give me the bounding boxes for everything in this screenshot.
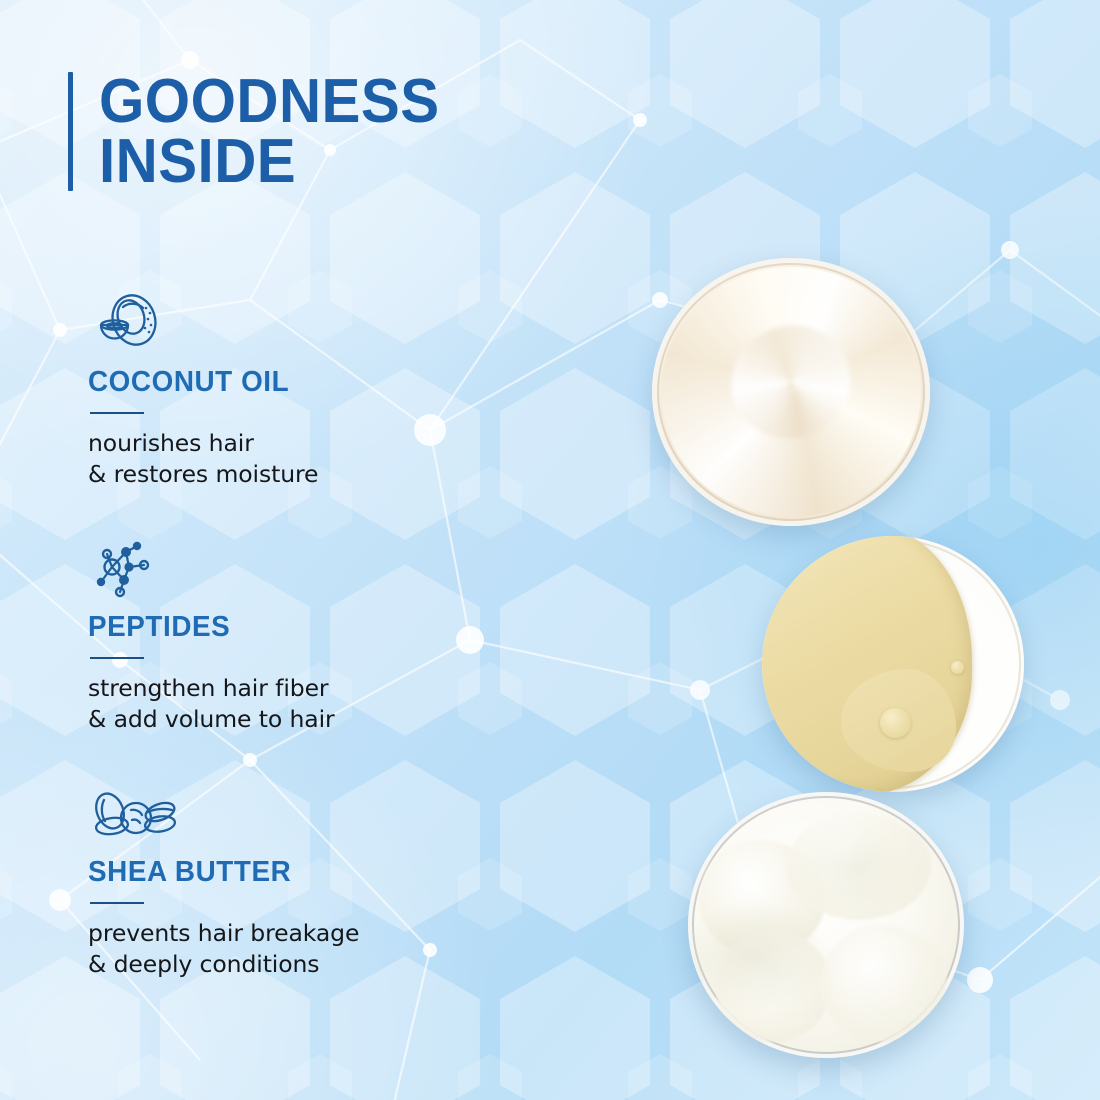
oil-pool-lobe (841, 669, 956, 771)
ingredient-description: nourishes hair & restores moisture (88, 428, 488, 489)
shea-shading (688, 792, 964, 1058)
ingredient-description: prevents hair breakage & deeply conditio… (88, 918, 488, 979)
shea-butter-jar (688, 792, 964, 1058)
ingredient-title: COCONUT OIL (88, 366, 472, 399)
golden-oil-dish (762, 536, 1024, 792)
ingredient-description: strengthen hair fiber & add volume to ha… (88, 673, 488, 734)
ingredient-item-coconut-oil: COCONUT OIL nourishes hair & restores mo… (88, 292, 488, 489)
page-title-block: GOODNESS INSIDE (68, 72, 461, 191)
title-accent-bar (68, 72, 73, 191)
ingredient-divider (90, 657, 144, 659)
cream-swirl-texture (661, 267, 921, 517)
ingredient-divider (90, 902, 144, 904)
goodness-inside-infographic: GOODNESS INSIDE (0, 0, 1100, 1100)
shea-texture-chunk (820, 925, 947, 1042)
oil-droplet-small (951, 661, 964, 674)
peptide-molecule-icon (88, 537, 488, 599)
shea-texture-chunk (699, 840, 826, 957)
coconut-icon (88, 292, 488, 354)
ingredient-title: SHEA BUTTER (88, 856, 472, 889)
ingredient-item-shea-butter: SHEA BUTTER prevents hair breakage & dee… (88, 782, 488, 979)
shea-texture-chunk (716, 930, 832, 1042)
ingredient-title: PEPTIDES (88, 611, 472, 644)
ingredient-list: COCONUT OIL nourishes hair & restores mo… (88, 292, 488, 979)
page-title: GOODNESS INSIDE (99, 72, 440, 191)
oil-pool (762, 536, 972, 792)
oil-droplet-large (880, 708, 911, 738)
ingredient-divider (90, 412, 144, 414)
shea-nut-icon (88, 782, 488, 844)
whipped-cream-jar (652, 258, 930, 526)
ingredient-item-peptides: PEPTIDES strengthen hair fiber & add vol… (88, 537, 488, 734)
shea-texture-chunk (787, 813, 931, 919)
